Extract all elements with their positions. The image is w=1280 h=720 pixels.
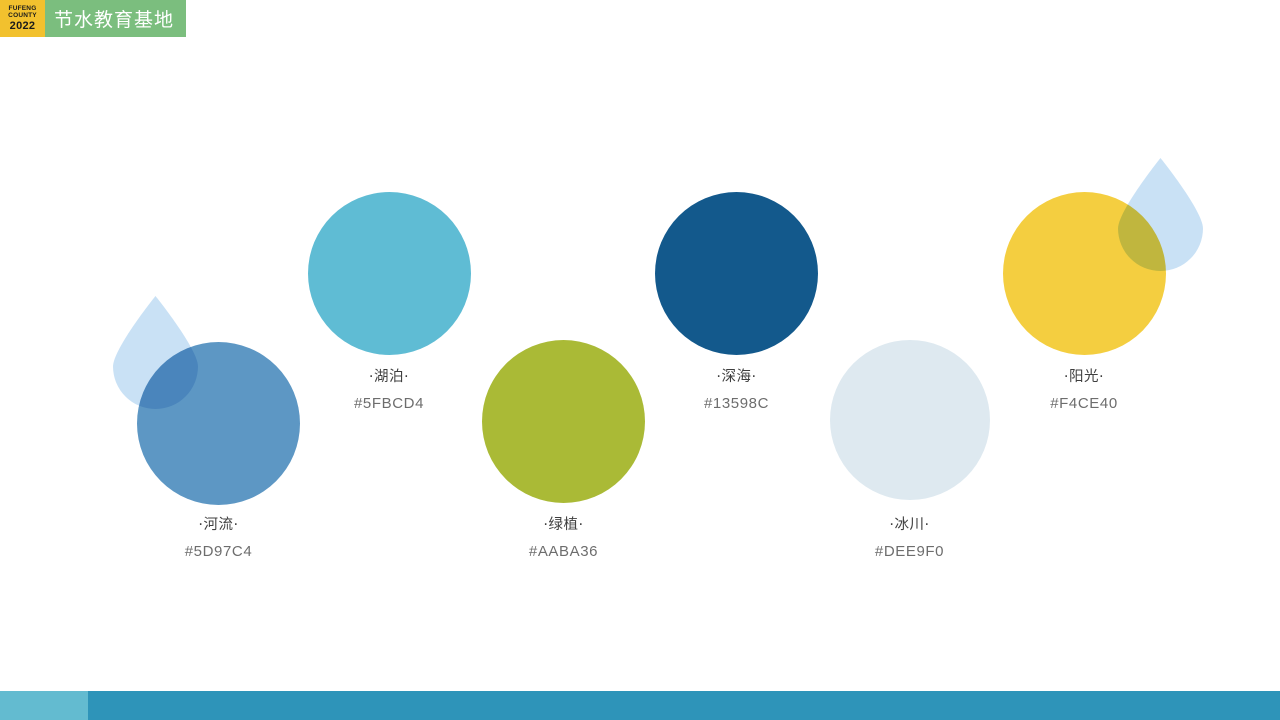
swatch-name-label: ·湖泊· [279,370,499,385]
swatch-caption: ·河流·#5D97C4 [109,518,329,559]
water-droplet-icon [113,296,198,409]
swatch-name-label: ·绿植· [454,518,674,533]
swatch-hex-value: #5FBCD4 [279,396,499,411]
swatch-caption: ·冰川·#DEE9F0 [800,518,1020,559]
swatch-caption: ·阳光·#F4CE40 [974,370,1194,411]
swatch-caption: ·深海·#13598C [627,370,847,411]
swatch-caption: ·湖泊·#5FBCD4 [279,370,499,411]
swatch-circle [655,192,818,355]
swatch-circle [308,192,471,355]
swatch-hex-value: #DEE9F0 [800,544,1020,559]
swatch-hex-value: #5D97C4 [109,544,329,559]
swatch-name-label: ·河流· [109,518,329,533]
footer-accent-left [0,691,88,720]
water-droplet-icon [1118,158,1203,271]
footer-accent-right [88,691,1280,720]
swatch-hex-value: #AABA36 [454,544,674,559]
color-palette-stage: ·河流·#5D97C4·湖泊·#5FBCD4·绿植·#AABA36·深海·#13… [0,0,1280,720]
swatch-name-label: ·冰川· [800,518,1020,533]
swatch-name-label: ·阳光· [974,370,1194,385]
swatch-name-label: ·深海· [627,370,847,385]
footer-bar [0,691,1280,720]
swatch-hex-value: #13598C [627,396,847,411]
swatch-circle [830,340,990,500]
swatch-circle [482,340,645,503]
swatch-hex-value: #F4CE40 [974,396,1194,411]
swatch-caption: ·绿植·#AABA36 [454,518,674,559]
